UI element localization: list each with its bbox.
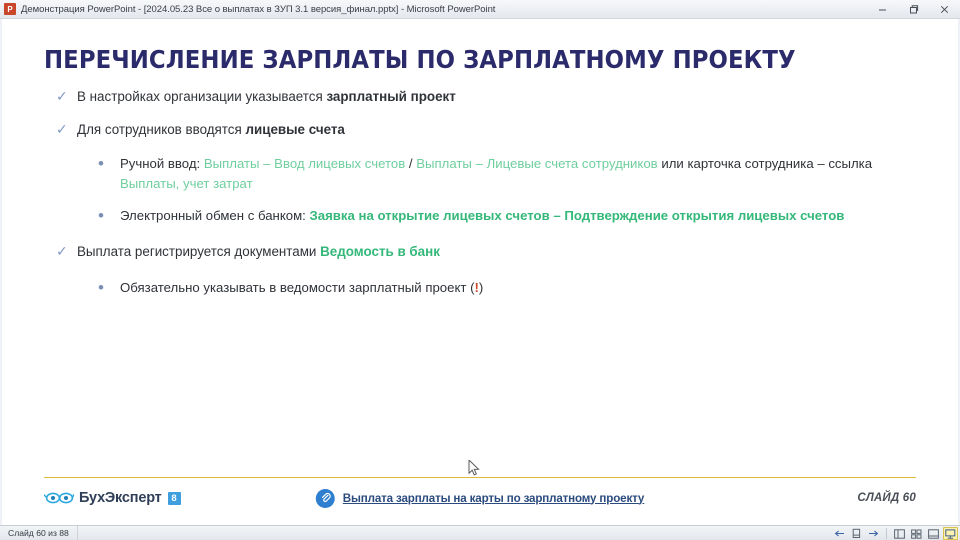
bullet-item: ✓ Для сотрудников вводятся лицевые счета — [2, 120, 958, 139]
glasses-icon — [44, 491, 74, 505]
bullet-item: ✓ Выплата регистрируется документами Вед… — [2, 242, 958, 261]
bullet-text-bold: лицевые счета — [245, 122, 344, 137]
status-separator — [886, 528, 887, 539]
slide-counter: Слайд 60 из 88 — [0, 526, 78, 540]
status-bar: Слайд 60 из 88 — [0, 525, 960, 540]
slide-title: ПЕРЕЧИСЛЕНИЕ ЗАРПЛАТЫ ПО ЗАРПЛАТНОМУ ПРО… — [44, 45, 796, 74]
bullet-text-plain: Обязательно указывать в ведомости зарпла… — [120, 280, 474, 295]
bullet-text-plain: Выплата регистрируется документами — [77, 244, 320, 259]
status-bar-buttons — [832, 526, 958, 540]
bullet-item: • Ручной ввод: Выплаты – Ввод лицевых сч… — [2, 154, 912, 194]
title-bar: P Демонстрация PowerPoint - [2024.05.23 … — [0, 0, 960, 19]
bullet-text-plain: Электронный обмен с банком: — [120, 208, 310, 223]
slide-stage: ПЕРЕЧИСЛЕНИЕ ЗАРПЛАТЫ ПО ЗАРПЛАТНОМУ ПРО… — [0, 19, 960, 525]
bullet-dot-icon: • — [98, 205, 104, 228]
bullet-item: • Обязательно указывать в ведомости зарп… — [2, 278, 912, 298]
bullet-text-plain: / — [405, 156, 416, 171]
slide-number-label: СЛАЙД 60 — [857, 492, 916, 504]
brand-name: БухЭксперт — [79, 490, 162, 506]
minimize-button[interactable] — [867, 0, 898, 19]
powerpoint-icon: P — [4, 3, 16, 15]
brand-version-badge: 8 — [168, 492, 181, 505]
slide-sorter-button[interactable] — [909, 527, 924, 540]
footer-divider — [44, 477, 916, 479]
slide-canvas[interactable]: ПЕРЕЧИСЛЕНИЕ ЗАРПЛАТЫ ПО ЗАРПЛАТНОМУ ПРО… — [2, 19, 958, 525]
previous-slide-button[interactable] — [832, 527, 847, 540]
restore-button[interactable] — [898, 0, 929, 19]
bullet-text-link-bold: Ведомость в банк — [320, 244, 440, 259]
bullet-text-bold: зарплатный проект — [326, 89, 455, 104]
bullet-dot-icon: • — [98, 153, 104, 176]
window-title: Демонстрация PowerPoint - [2024.05.23 Вс… — [21, 4, 495, 15]
reading-view-button[interactable] — [926, 527, 941, 540]
normal-view-button[interactable] — [892, 527, 907, 540]
footer-hyperlink[interactable]: Выплата зарплаты на карты по зарплатному… — [316, 489, 644, 508]
next-slide-button[interactable] — [866, 527, 881, 540]
bullet-item: • Электронный обмен с банком: Заявка на … — [2, 206, 912, 226]
slideshow-button[interactable] — [943, 527, 958, 540]
paperclip-icon — [316, 489, 335, 508]
bullet-text-plain: В настройках организации указывается — [77, 89, 326, 104]
bullet-item: ✓ В настройках организации указывается з… — [2, 87, 958, 106]
checkmark-icon: ✓ — [56, 120, 68, 139]
bullet-text-plain: или карточка сотрудника – ссылка — [658, 156, 872, 171]
slide-body: ✓ В настройках организации указывается з… — [2, 87, 958, 310]
bullet-text-link: Выплаты, учет затрат — [120, 176, 253, 191]
bullet-text-plain: ) — [479, 280, 483, 295]
bullet-text-plain: Ручной ввод: — [120, 156, 204, 171]
bullet-text-plain: Для сотрудников вводятся — [77, 122, 245, 137]
footer-hyperlink-text[interactable]: Выплата зарплаты на карты по зарплатному… — [343, 492, 644, 505]
slide-footer: БухЭксперт 8 Выплата зарплаты на карты п… — [44, 477, 916, 510]
checkmark-icon: ✓ — [56, 242, 68, 261]
close-button[interactable] — [929, 0, 960, 19]
bullet-dot-icon: • — [98, 277, 104, 300]
powerpoint-window: P Демонстрация PowerPoint - [2024.05.23 … — [0, 0, 960, 540]
brand-logo: БухЭксперт 8 — [44, 490, 181, 506]
pointer-options-button[interactable] — [849, 527, 864, 540]
window-controls — [867, 0, 960, 19]
checkmark-icon: ✓ — [56, 87, 68, 106]
bullet-text-link-bold: Заявка на открытие лицевых счетов – Подт… — [310, 208, 845, 223]
bullet-text-link: Выплаты – Ввод лицевых счетов — [204, 156, 405, 171]
bullet-text-link: Выплаты – Лицевые счета сотрудников — [416, 156, 657, 171]
